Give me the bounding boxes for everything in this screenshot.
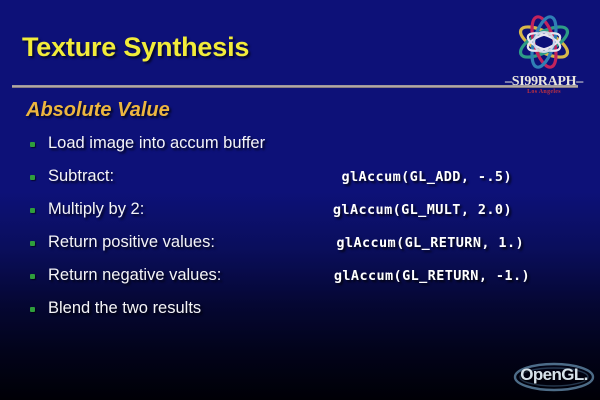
list-item: Return positive values: glAccum(GL_RETUR…: [0, 229, 600, 262]
bullet-list: Load image into accum buffer Subtract: g…: [0, 130, 600, 328]
bullet-dot-icon: [30, 307, 35, 312]
list-item-code: glAccum(GL_ADD, -.5): [341, 164, 512, 190]
opengl-logo: OpenGL.: [512, 360, 596, 394]
presentation-slide: Texture Synthesis Absolute Value Load im…: [0, 0, 600, 400]
list-item: Blend the two results: [0, 295, 600, 328]
bullet-dot-icon: [30, 274, 35, 279]
siggraph-location-label: Los Angeles: [492, 89, 596, 95]
slide-subtitle: Absolute Value: [26, 99, 170, 122]
page-title: Texture Synthesis: [22, 32, 249, 63]
list-item-label: Return negative values:: [48, 262, 221, 288]
list-item-label: Blend the two results: [48, 295, 201, 321]
list-item: Return negative values: glAccum(GL_RETUR…: [0, 262, 600, 295]
list-item-code: glAccum(GL_RETURN, 1.): [336, 230, 524, 256]
list-item-code: glAccum(GL_MULT, 2.0): [333, 197, 512, 223]
list-item-label: Multiply by 2:: [48, 196, 144, 222]
siggraph-rings-icon: [492, 8, 596, 78]
bullet-dot-icon: [30, 175, 35, 180]
list-item-code: glAccum(GL_RETURN, -1.): [334, 263, 530, 289]
list-item: Load image into accum buffer: [0, 130, 600, 163]
bullet-dot-icon: [30, 142, 35, 147]
list-item: Subtract: glAccum(GL_ADD, -.5): [0, 163, 600, 196]
bullet-dot-icon: [30, 241, 35, 246]
siggraph-wordmark: –SI99RAPH–: [492, 74, 596, 90]
list-item-label: Subtract:: [48, 163, 114, 189]
list-item: Multiply by 2: glAccum(GL_MULT, 2.0): [0, 196, 600, 229]
siggraph-logo: –SI99RAPH– Los Angeles: [492, 8, 596, 104]
list-item-label: Load image into accum buffer: [48, 130, 265, 156]
list-item-label: Return positive values:: [48, 229, 215, 255]
bullet-dot-icon: [30, 208, 35, 213]
opengl-wordmark: OpenGL.: [512, 365, 596, 385]
